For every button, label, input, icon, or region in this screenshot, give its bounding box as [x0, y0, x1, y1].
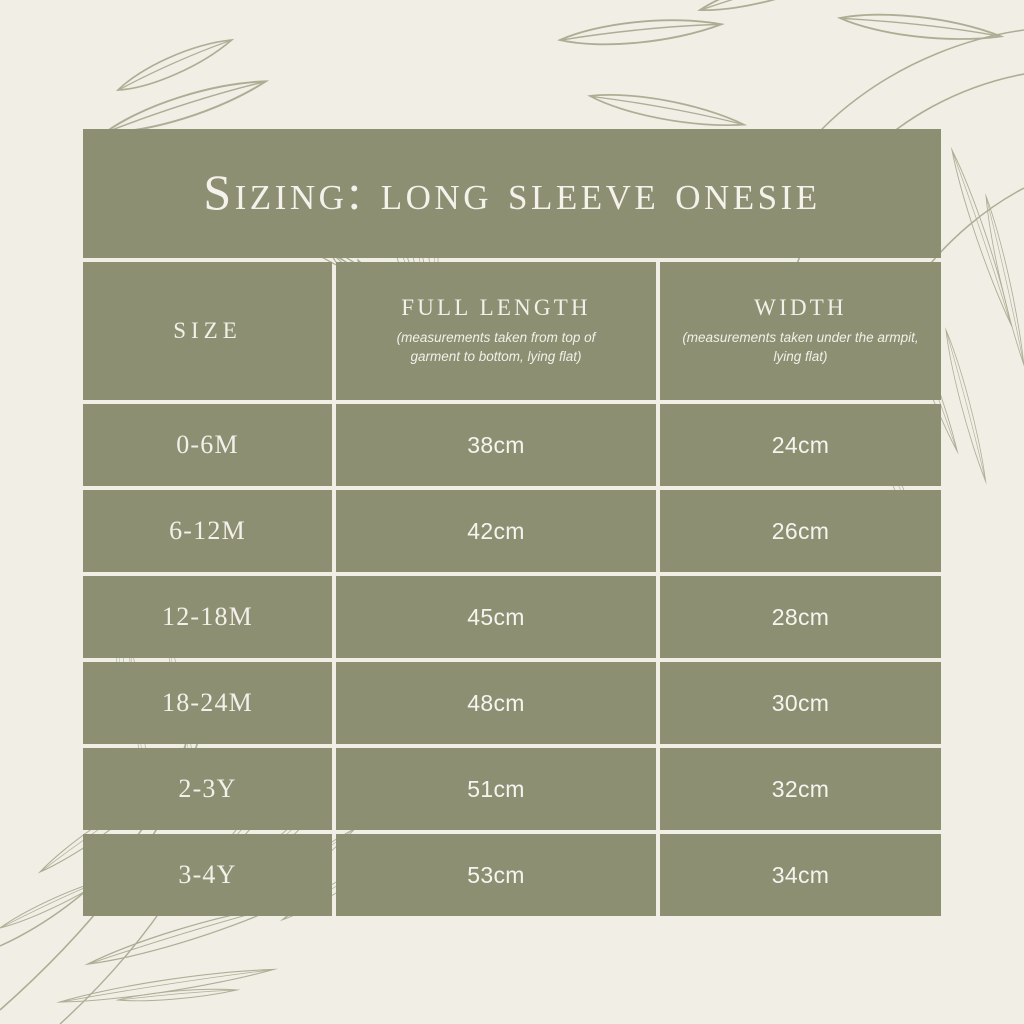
cell-size: 0-6M: [83, 404, 332, 486]
header-cell-size: Size: [83, 262, 332, 400]
cell-full-length: 48cm: [336, 662, 656, 744]
size-value: 3-4Y: [178, 860, 236, 890]
header-note-full-length: (measurements taken from top of garment …: [374, 328, 619, 367]
table-header-row: Size Full length (measurements taken fro…: [83, 262, 941, 400]
width-value: 34cm: [772, 862, 829, 889]
cell-width: 34cm: [660, 834, 941, 916]
full-length-value: 53cm: [467, 862, 524, 889]
cell-size: 12-18M: [83, 576, 332, 658]
size-value: 0-6M: [176, 430, 239, 460]
width-value: 32cm: [772, 776, 829, 803]
table-row: 3-4Y 53cm 34cm: [83, 834, 941, 916]
table-row: 0-6M 38cm 24cm: [83, 404, 941, 486]
header-label-size: Size: [173, 318, 242, 343]
header-cell-full-length: Full length (measurements taken from top…: [336, 262, 656, 400]
full-length-value: 45cm: [467, 604, 524, 631]
cell-full-length: 53cm: [336, 834, 656, 916]
header-label-width: Width: [754, 295, 847, 320]
table-row: 2-3Y 51cm 32cm: [83, 748, 941, 830]
cell-full-length: 42cm: [336, 490, 656, 572]
cell-width: 30cm: [660, 662, 941, 744]
table-row: 12-18M 45cm 28cm: [83, 576, 941, 658]
header-cell-width: Width (measurements taken under the armp…: [660, 262, 941, 400]
size-value: 18-24M: [162, 688, 253, 718]
cell-width: 28cm: [660, 576, 941, 658]
cell-size: 3-4Y: [83, 834, 332, 916]
header-note-width: (measurements taken under the armpit, ly…: [678, 328, 923, 367]
full-length-value: 51cm: [467, 776, 524, 803]
table-row: 6-12M 42cm 26cm: [83, 490, 941, 572]
header-label-full-length: Full length: [401, 295, 591, 320]
cell-width: 24cm: [660, 404, 941, 486]
full-length-value: 42cm: [467, 518, 524, 545]
cell-size: 2-3Y: [83, 748, 332, 830]
full-length-value: 38cm: [467, 432, 524, 459]
cell-width: 32cm: [660, 748, 941, 830]
sizing-chart: Sizing: long sleeve onesie Size Full len…: [83, 129, 941, 895]
cell-size: 18-24M: [83, 662, 332, 744]
cell-full-length: 51cm: [336, 748, 656, 830]
page-title: Sizing: long sleeve onesie: [203, 167, 820, 221]
width-value: 28cm: [772, 604, 829, 631]
cell-full-length: 45cm: [336, 576, 656, 658]
size-value: 2-3Y: [178, 774, 236, 804]
cell-full-length: 38cm: [336, 404, 656, 486]
width-value: 26cm: [772, 518, 829, 545]
size-value: 6-12M: [169, 516, 246, 546]
width-value: 24cm: [772, 432, 829, 459]
width-value: 30cm: [772, 690, 829, 717]
cell-size: 6-12M: [83, 490, 332, 572]
chart-title-band: Sizing: long sleeve onesie: [83, 129, 941, 258]
size-value: 12-18M: [162, 602, 253, 632]
cell-width: 26cm: [660, 490, 941, 572]
full-length-value: 48cm: [467, 690, 524, 717]
table-row: 18-24M 48cm 30cm: [83, 662, 941, 744]
